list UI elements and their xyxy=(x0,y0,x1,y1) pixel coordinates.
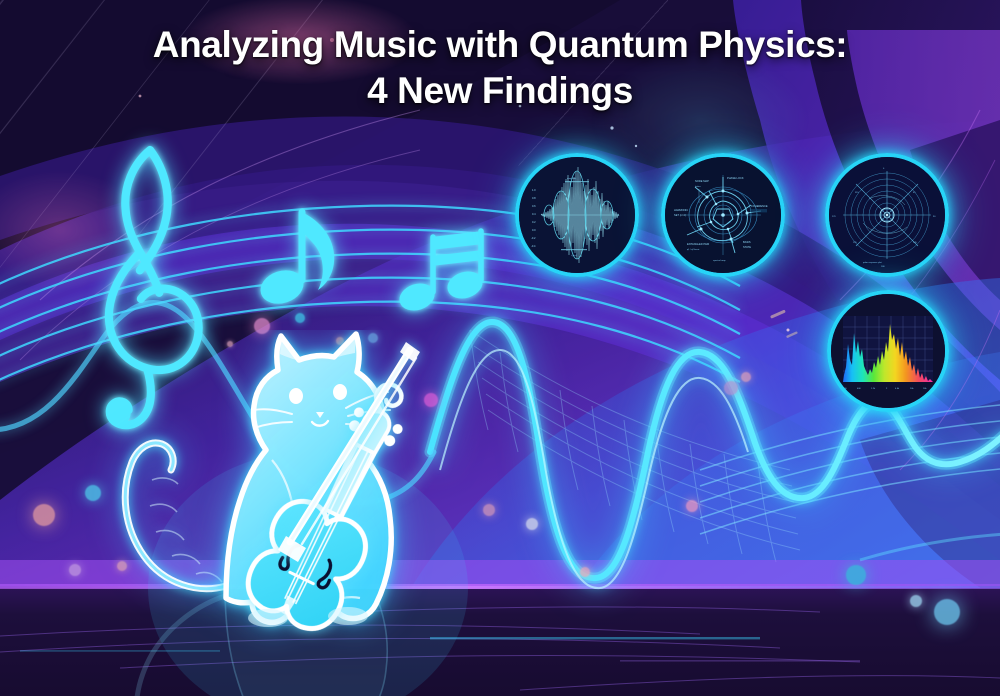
svg-text:lattice: lattice xyxy=(695,185,701,188)
svg-text:q1 / q2 basis: q1 / q2 basis xyxy=(687,249,700,251)
svg-text:0.6: 0.6 xyxy=(532,204,536,208)
svg-text:COHERENCE: COHERENCE xyxy=(751,204,768,208)
spectrum-chart: 100 400 1.2k 2 4.6k 10k 16k xyxy=(831,294,945,408)
radar-chart: 0 90 180 270 45 315 135 225 polar respon… xyxy=(829,157,945,273)
svg-text:NODE MAP: NODE MAP xyxy=(695,179,709,183)
network-chart: NODE MAP lattice PHASE LOCK COHERENCE HA… xyxy=(665,157,781,273)
svg-text:STATE: STATE xyxy=(743,245,751,249)
svg-text:1.0: 1.0 xyxy=(532,188,536,192)
svg-text:0.8: 0.8 xyxy=(532,196,536,200)
svg-text:amplitude: amplitude xyxy=(567,177,577,180)
waveform-chart: 1.0 0.8 0.6 0.4 0.2 0.0 -0.2 -0.4 xyxy=(519,157,635,273)
svg-text:BASIS: BASIS xyxy=(743,240,751,244)
svg-text:t (ms): t (ms) xyxy=(571,254,577,257)
svg-text:SET (n=4): SET (n=4) xyxy=(674,213,686,217)
svg-text:0.2: 0.2 xyxy=(532,220,536,224)
polar-radar-chart-panel[interactable]: 0 90 180 270 45 315 135 225 polar respon… xyxy=(825,153,949,277)
svg-text:spectral map: spectral map xyxy=(713,259,726,262)
svg-text:0.0: 0.0 xyxy=(532,228,536,232)
waveform-oscilloscope-panel[interactable]: 1.0 0.8 0.6 0.4 0.2 0.0 -0.2 -0.4 xyxy=(515,153,639,277)
svg-text:PHASE LOCK: PHASE LOCK xyxy=(727,176,744,180)
svg-text:-0.2: -0.2 xyxy=(531,236,536,240)
svg-text:polar response plot: polar response plot xyxy=(863,261,882,264)
quantum-network-diagram-panel[interactable]: NODE MAP lattice PHASE LOCK COHERENCE HA… xyxy=(661,153,785,277)
svg-text:HARMONIC: HARMONIC xyxy=(674,208,688,212)
svg-text:0.4: 0.4 xyxy=(532,212,536,216)
cat-with-violin-illustration xyxy=(40,330,560,696)
svg-text:-0.4: -0.4 xyxy=(531,244,536,248)
frequency-spectrum-panel[interactable]: 100 400 1.2k 2 4.6k 10k 16k xyxy=(827,290,949,412)
poster-canvas: 1.0 0.8 0.6 0.4 0.2 0.0 -0.2 -0.4 xyxy=(0,0,1000,696)
svg-text:ENTANGLED PAIR: ENTANGLED PAIR xyxy=(687,242,709,246)
